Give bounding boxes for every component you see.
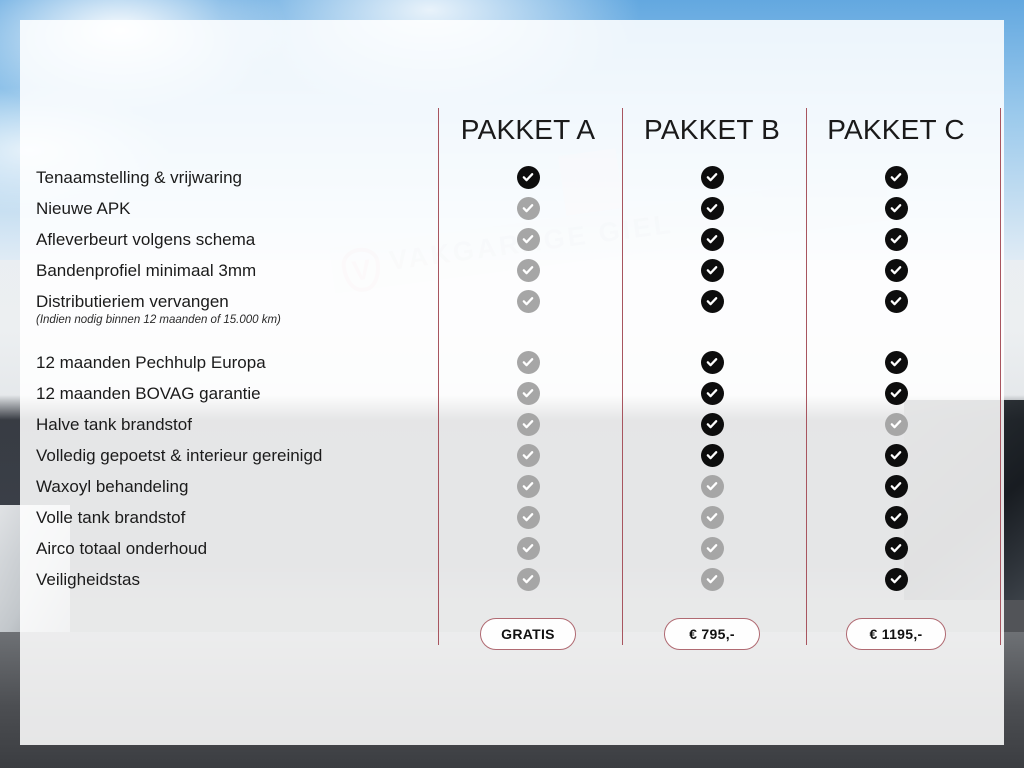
column-divider-c — [806, 108, 807, 645]
check-excluded-icon-a — [517, 228, 540, 251]
check-excluded-icon-b — [701, 568, 724, 591]
check-included-icon-c — [885, 228, 908, 251]
check-excluded-icon-a — [517, 444, 540, 467]
feature-label: Tenaamstelling & vrijwaring — [36, 168, 242, 188]
price-badge-c[interactable]: € 1195,- — [846, 618, 946, 650]
check-included-icon-c — [885, 475, 908, 498]
check-excluded-icon-b — [701, 537, 724, 560]
feature-label: Bandenprofiel minimaal 3mm — [36, 261, 256, 281]
feature-label: Distributieriem vervangen — [36, 292, 229, 312]
check-excluded-icon-a — [517, 197, 540, 220]
package-header-a: PAKKET A — [428, 114, 628, 146]
check-included-icon-b — [701, 259, 724, 282]
check-excluded-icon-a — [517, 351, 540, 374]
price-badge-a[interactable]: GRATIS — [480, 618, 576, 650]
check-included-icon-b — [701, 444, 724, 467]
check-excluded-icon-a — [517, 568, 540, 591]
feature-label: Waxoyl behandeling — [36, 477, 188, 497]
feature-label: Halve tank brandstof — [36, 415, 192, 435]
check-included-icon-c — [885, 351, 908, 374]
check-included-icon-b — [701, 290, 724, 313]
package-header-b: PAKKET B — [612, 114, 812, 146]
check-excluded-icon-a — [517, 290, 540, 313]
price-badge-b[interactable]: € 795,- — [664, 618, 760, 650]
column-divider-b — [622, 108, 623, 645]
feature-label: Nieuwe APK — [36, 199, 131, 219]
check-included-icon-c — [885, 568, 908, 591]
check-included-icon-a — [517, 166, 540, 189]
feature-label: Afleverbeurt volgens schema — [36, 230, 255, 250]
check-included-icon-c — [885, 197, 908, 220]
check-excluded-icon-c — [885, 413, 908, 436]
feature-label: 12 maanden BOVAG garantie — [36, 384, 261, 404]
check-included-icon-c — [885, 166, 908, 189]
package-header-c: PAKKET C — [796, 114, 996, 146]
column-divider-right — [1000, 108, 1001, 645]
column-divider-a — [438, 108, 439, 645]
check-included-icon-c — [885, 259, 908, 282]
check-excluded-icon-a — [517, 382, 540, 405]
check-excluded-icon-b — [701, 475, 724, 498]
check-included-icon-b — [701, 166, 724, 189]
feature-note: (Indien nodig binnen 12 maanden of 15.00… — [36, 314, 281, 326]
check-included-icon-c — [885, 537, 908, 560]
check-included-icon-b — [701, 228, 724, 251]
package-comparison-table: PAKKET APAKKET BPAKKET CTenaamstelling &… — [0, 0, 1024, 768]
feature-label: Airco totaal onderhoud — [36, 539, 207, 559]
check-included-icon-c — [885, 290, 908, 313]
check-included-icon-c — [885, 382, 908, 405]
check-included-icon-c — [885, 506, 908, 529]
check-included-icon-b — [701, 197, 724, 220]
check-included-icon-b — [701, 351, 724, 374]
feature-label: 12 maanden Pechhulp Europa — [36, 353, 266, 373]
feature-label: Volledig gepoetst & interieur gereinigd — [36, 446, 322, 466]
feature-label: Volle tank brandstof — [36, 508, 185, 528]
check-excluded-icon-a — [517, 475, 540, 498]
check-included-icon-c — [885, 444, 908, 467]
check-excluded-icon-a — [517, 506, 540, 529]
check-excluded-icon-a — [517, 537, 540, 560]
check-excluded-icon-b — [701, 506, 724, 529]
check-excluded-icon-a — [517, 259, 540, 282]
check-included-icon-b — [701, 413, 724, 436]
check-included-icon-b — [701, 382, 724, 405]
check-excluded-icon-a — [517, 413, 540, 436]
feature-label: Veiligheidstas — [36, 570, 140, 590]
